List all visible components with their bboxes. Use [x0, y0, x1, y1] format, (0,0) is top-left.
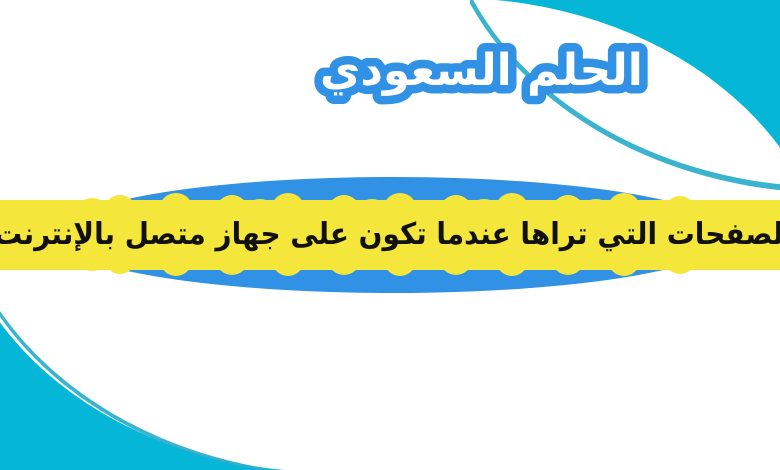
headline-banner: الصفحات التي تراها عندما تكون على جهاز م… [54, 177, 732, 293]
headline-text: الصفحات التي تراها عندما تكون على جهاز م… [0, 208, 780, 262]
brand-logo: الحلم السعودي [58, 27, 328, 109]
brand-logo-text: الحلم السعودي [320, 45, 643, 96]
poster-canvas: الحلم السعودي [0, 0, 780, 470]
headline-text-container: الصفحات التي تراها عندما تكون على جهاز م… [54, 177, 732, 293]
